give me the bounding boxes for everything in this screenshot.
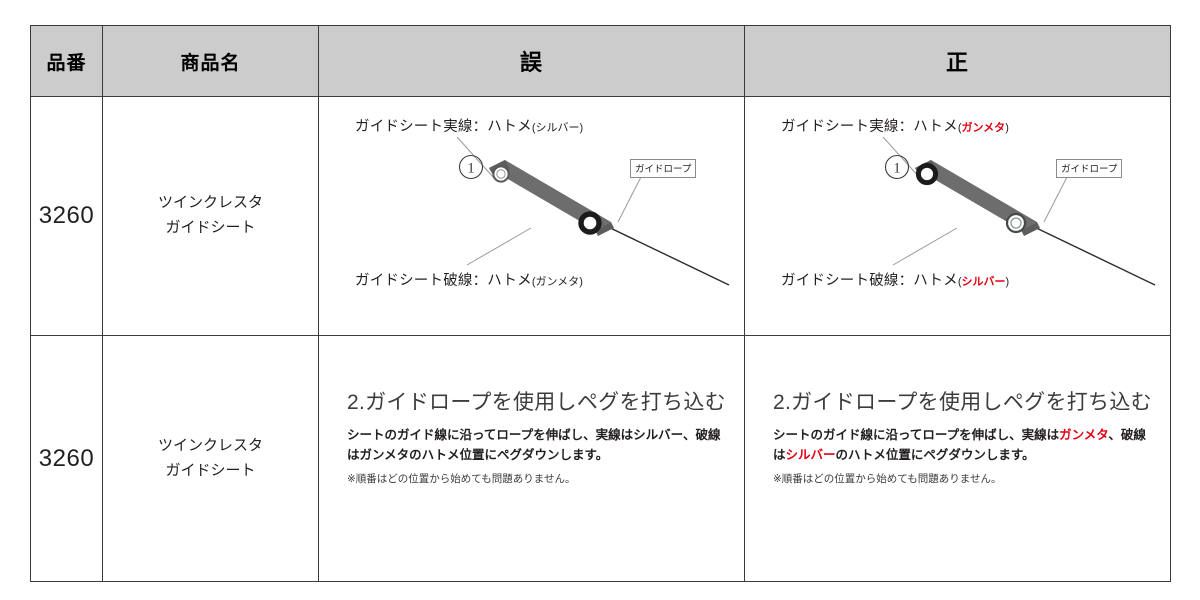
instruction-body-incorrect: シートのガイド線に沿ってロープを伸ばし、実線はシルバー、破線はガンメタのハトメ位… bbox=[347, 425, 727, 466]
annotation-solid-paren-close: ) bbox=[1005, 122, 1009, 134]
annotation-dashed-paren-close: ) bbox=[1006, 276, 1010, 288]
guide-rope-label-correct: ガイドロープ bbox=[1056, 159, 1122, 178]
svg-text:1: 1 bbox=[893, 161, 901, 177]
annotation-dashed-line-value: シルバー bbox=[962, 276, 1006, 288]
annotation-solid-line-value: シルバー bbox=[536, 122, 580, 134]
guide-rope-label-incorrect: ガイドロープ bbox=[630, 159, 696, 178]
annotation-solid-paren-close: ) bbox=[580, 122, 584, 134]
correct-diagram: 1 ガイドシート実線：ハトメ(ガンメタ) ガイドシート破線：ハトメ(シルバー) … bbox=[745, 97, 1170, 335]
product-name-line-2: ガイドシート bbox=[103, 459, 318, 484]
incorrect-diagram-cell: 1 ガイドシート実線：ハトメ(シルバー) ガイドシート破線：ハトメ(ガンメタ) … bbox=[319, 97, 745, 336]
header-incorrect: 誤 bbox=[319, 26, 745, 97]
instruction-heading-incorrect: 2.ガイドロープを使用しペグを打ち込む bbox=[347, 386, 727, 416]
instruction-body-part-2: 、 bbox=[683, 428, 696, 442]
instruction-solid-color-correct: ガンメタ bbox=[1059, 428, 1108, 442]
header-correct-label: 正 bbox=[946, 50, 969, 75]
header-product-name: 商品名 bbox=[103, 26, 319, 97]
instruction-body-part-1: シートのガイド線に沿ってロープを伸ばし、実線は bbox=[773, 428, 1059, 442]
header-product-code-label: 品番 bbox=[46, 53, 86, 74]
instruction-body-part-1: シートのガイド線に沿ってロープを伸ばし、実線は bbox=[347, 428, 633, 442]
annotation-dashed-line-prefix: ガイドシート破線：ハトメ bbox=[355, 273, 532, 289]
instruction-note-correct: ※順番はどの位置から始めても問題ありません。 bbox=[773, 471, 1153, 486]
product-code-cell: 3260 bbox=[31, 97, 103, 336]
product-name-line-2: ガイドシート bbox=[103, 216, 318, 241]
instruction-dashed-color-correct: シルバー bbox=[786, 448, 836, 462]
product-code-cell: 3260 bbox=[31, 336, 103, 582]
incorrect-instruction-block: 2.ガイドロープを使用しペグを打ち込む シートのガイド線に沿ってロープを伸ばし、… bbox=[347, 386, 727, 486]
annotation-dashed-paren-close: ) bbox=[579, 276, 583, 288]
annotation-dashed-line-incorrect: ガイドシート破線：ハトメ(ガンメタ) bbox=[355, 269, 583, 290]
instruction-solid-color-incorrect: シルバー bbox=[633, 428, 683, 442]
annotation-dashed-line-correct: ガイドシート破線：ハトメ(シルバー) bbox=[781, 269, 1009, 290]
svg-text:1: 1 bbox=[467, 161, 475, 177]
incorrect-diagram: 1 ガイドシート実線：ハトメ(シルバー) ガイドシート破線：ハトメ(ガンメタ) … bbox=[319, 97, 744, 335]
correct-instruction-block: 2.ガイドロープを使用しペグを打ち込む シートのガイド線に沿ってロープを伸ばし、… bbox=[773, 386, 1153, 486]
annotation-solid-line-value: ガンメタ bbox=[962, 122, 1006, 134]
annotation-dashed-line-prefix: ガイドシート破線：ハトメ bbox=[781, 273, 958, 289]
header-product-name-label: 商品名 bbox=[180, 53, 240, 74]
annotation-solid-line-prefix: ガイドシート実線：ハトメ bbox=[781, 119, 958, 135]
product-name-line-1: ツインクレスタ bbox=[103, 434, 318, 459]
instruction-body-part-2: 、 bbox=[1108, 428, 1121, 442]
header-correct: 正 bbox=[745, 26, 1171, 97]
correct-diagram-cell: 1 ガイドシート実線：ハトメ(ガンメタ) ガイドシート破線：ハトメ(シルバー) … bbox=[745, 97, 1171, 336]
annotation-solid-line-correct: ガイドシート実線：ハトメ(ガンメタ) bbox=[781, 115, 1009, 136]
table-row: 3260 ツインクレスタ ガイドシート bbox=[31, 97, 1171, 336]
instruction-body-correct: シートのガイド線に沿ってロープを伸ばし、実線はガンメタ、破線はシルバーのハトメ位… bbox=[773, 425, 1153, 466]
incorrect-instruction-cell: 2.ガイドロープを使用しペグを打ち込む シートのガイド線に沿ってロープを伸ばし、… bbox=[319, 336, 745, 582]
header-incorrect-label: 誤 bbox=[520, 50, 543, 75]
annotation-solid-line-prefix: ガイドシート実線：ハトメ bbox=[355, 119, 532, 135]
instruction-note-incorrect: ※順番はどの位置から始めても問題ありません。 bbox=[347, 471, 727, 486]
errata-table: 品番 商品名 誤 正 3260 ツインクレスタ ガイドシート bbox=[30, 25, 1171, 582]
product-name-cell: ツインクレスタ ガイドシート bbox=[103, 97, 319, 336]
instruction-body-part-4: のハトメ位置にペグダウンします。 bbox=[409, 448, 608, 462]
product-name-cell: ツインクレスタ ガイドシート bbox=[103, 336, 319, 582]
instruction-body-part-4: のハトメ位置にペグダウンします。 bbox=[836, 448, 1035, 462]
annotation-dashed-line-value: ガンメタ bbox=[536, 276, 580, 288]
instruction-dashed-color-incorrect: ガンメタ bbox=[360, 448, 410, 462]
table-header-row: 品番 商品名 誤 正 bbox=[31, 26, 1171, 97]
table-row: 3260 ツインクレスタ ガイドシート 2.ガイドロープを使用しペグを打ち込む … bbox=[31, 336, 1171, 582]
correct-instruction-cell: 2.ガイドロープを使用しペグを打ち込む シートのガイド線に沿ってロープを伸ばし、… bbox=[745, 336, 1171, 582]
errata-table-wrapper: 品番 商品名 誤 正 3260 ツインクレスタ ガイドシート bbox=[30, 25, 1170, 578]
header-product-code: 品番 bbox=[31, 26, 103, 97]
annotation-solid-line-incorrect: ガイドシート実線：ハトメ(シルバー) bbox=[355, 115, 583, 136]
instruction-heading-correct: 2.ガイドロープを使用しペグを打ち込む bbox=[773, 386, 1153, 416]
product-name-line-1: ツインクレスタ bbox=[103, 191, 318, 216]
